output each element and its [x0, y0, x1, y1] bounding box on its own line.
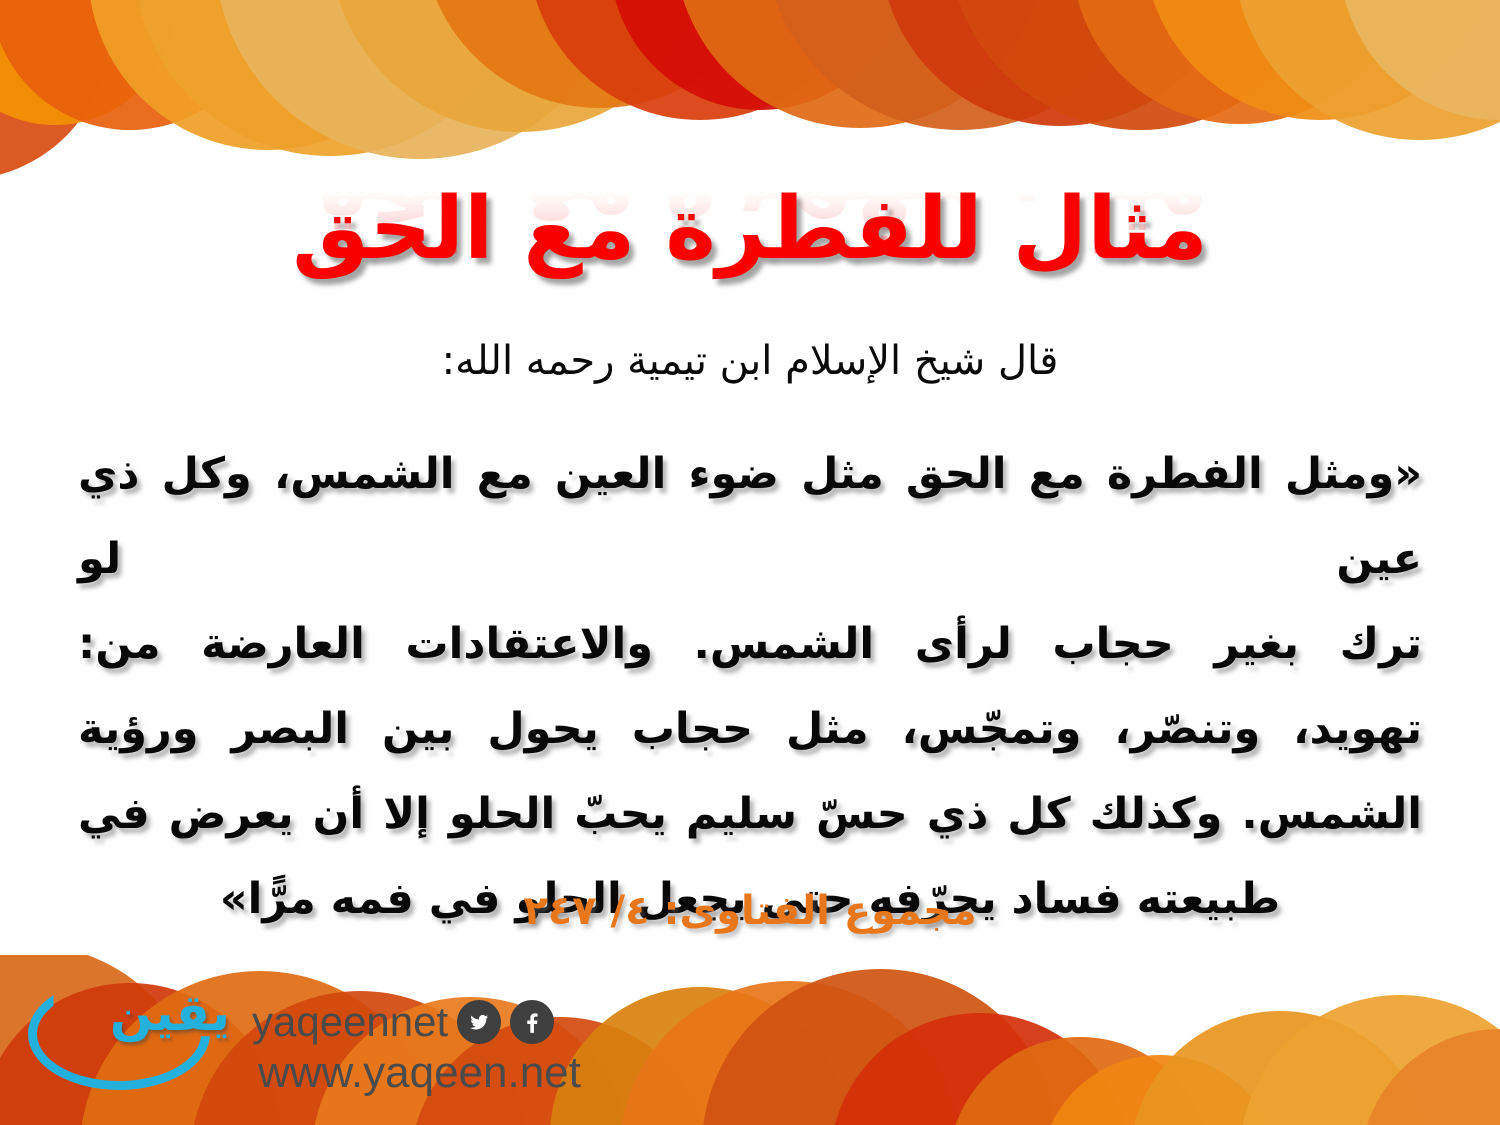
decorative-arc [1072, 0, 1408, 124]
decorative-arc [1144, 0, 1496, 120]
website-url[interactable]: www.yaqeen.net [258, 1048, 581, 1098]
decorative-arc [134, 0, 526, 156]
source-citation: مجموع الفتاوى: ٤/ ٢٤٧ [0, 888, 1500, 934]
quote-line: «ومثل الفطرة مع الحق مثل ضوء العين مع ال… [78, 432, 1422, 602]
decorative-arc [620, 981, 960, 1125]
attribution-line: قال شيخ الإسلام ابن تيمية رحمه الله: [0, 338, 1500, 384]
poster-canvas: مثال للفطرة مع الحق مثال للفطرة مع الحق … [0, 0, 1500, 1125]
decorative-arc [422, 0, 778, 108]
decorative-arc [1340, 0, 1500, 120]
decorative-arc [610, 0, 910, 110]
decorative-arc [0, 0, 110, 180]
decorative-arc [330, 0, 710, 132]
decorative-arc [948, 0, 1332, 130]
decorative-arc [1234, 0, 1500, 140]
quote-line: الشمس. وكذلك كل ذي حسّ سليم يحبّ الحلو إ… [78, 772, 1422, 857]
decorative-arc [1240, 995, 1500, 1125]
decorative-arc [764, 0, 1156, 130]
top-decoration-band [0, 0, 1500, 195]
decorative-arc [830, 1013, 1130, 1125]
quote-line: ترك بغير حجاب لرأى الشمس. والاعتقادات ال… [78, 602, 1422, 687]
decorative-arc [948, 1037, 1212, 1125]
page-title-reflection: مثال للفطرة مع الحق [0, 172, 1500, 260]
twitter-icon[interactable] [457, 1000, 501, 1044]
social-row: yaqeennet [248, 998, 554, 1046]
decorative-arc [0, 0, 270, 130]
quote-body: «ومثل الفطرة مع الحق مثل ضوء العين مع ال… [78, 432, 1422, 942]
social-handle[interactable]: yaqeennet [248, 998, 448, 1046]
decorative-arc [674, 0, 1046, 128]
decorative-arc [528, 0, 872, 120]
quote-line: تهويد، وتنصّر، وتمجّس، مثل حجاب يحول بين… [78, 687, 1422, 772]
brand-logo[interactable]: يقين [26, 982, 236, 1094]
decorative-arc [702, 969, 1058, 1125]
decorative-arc [880, 0, 1240, 126]
decorative-arc [550, 987, 850, 1125]
logo-label: يقين [110, 988, 230, 1038]
decorative-arc [88, 0, 448, 150]
decorative-arc [1040, 1055, 1280, 1125]
decorative-arc [1130, 1011, 1430, 1125]
decorative-arc [215, 0, 625, 159]
decorative-arc [0, 0, 175, 125]
title-block: مثال للفطرة مع الحق مثال للفطرة مع الحق [0, 186, 1500, 347]
decorative-arc [1360, 1029, 1500, 1125]
facebook-icon[interactable] [510, 1000, 554, 1044]
